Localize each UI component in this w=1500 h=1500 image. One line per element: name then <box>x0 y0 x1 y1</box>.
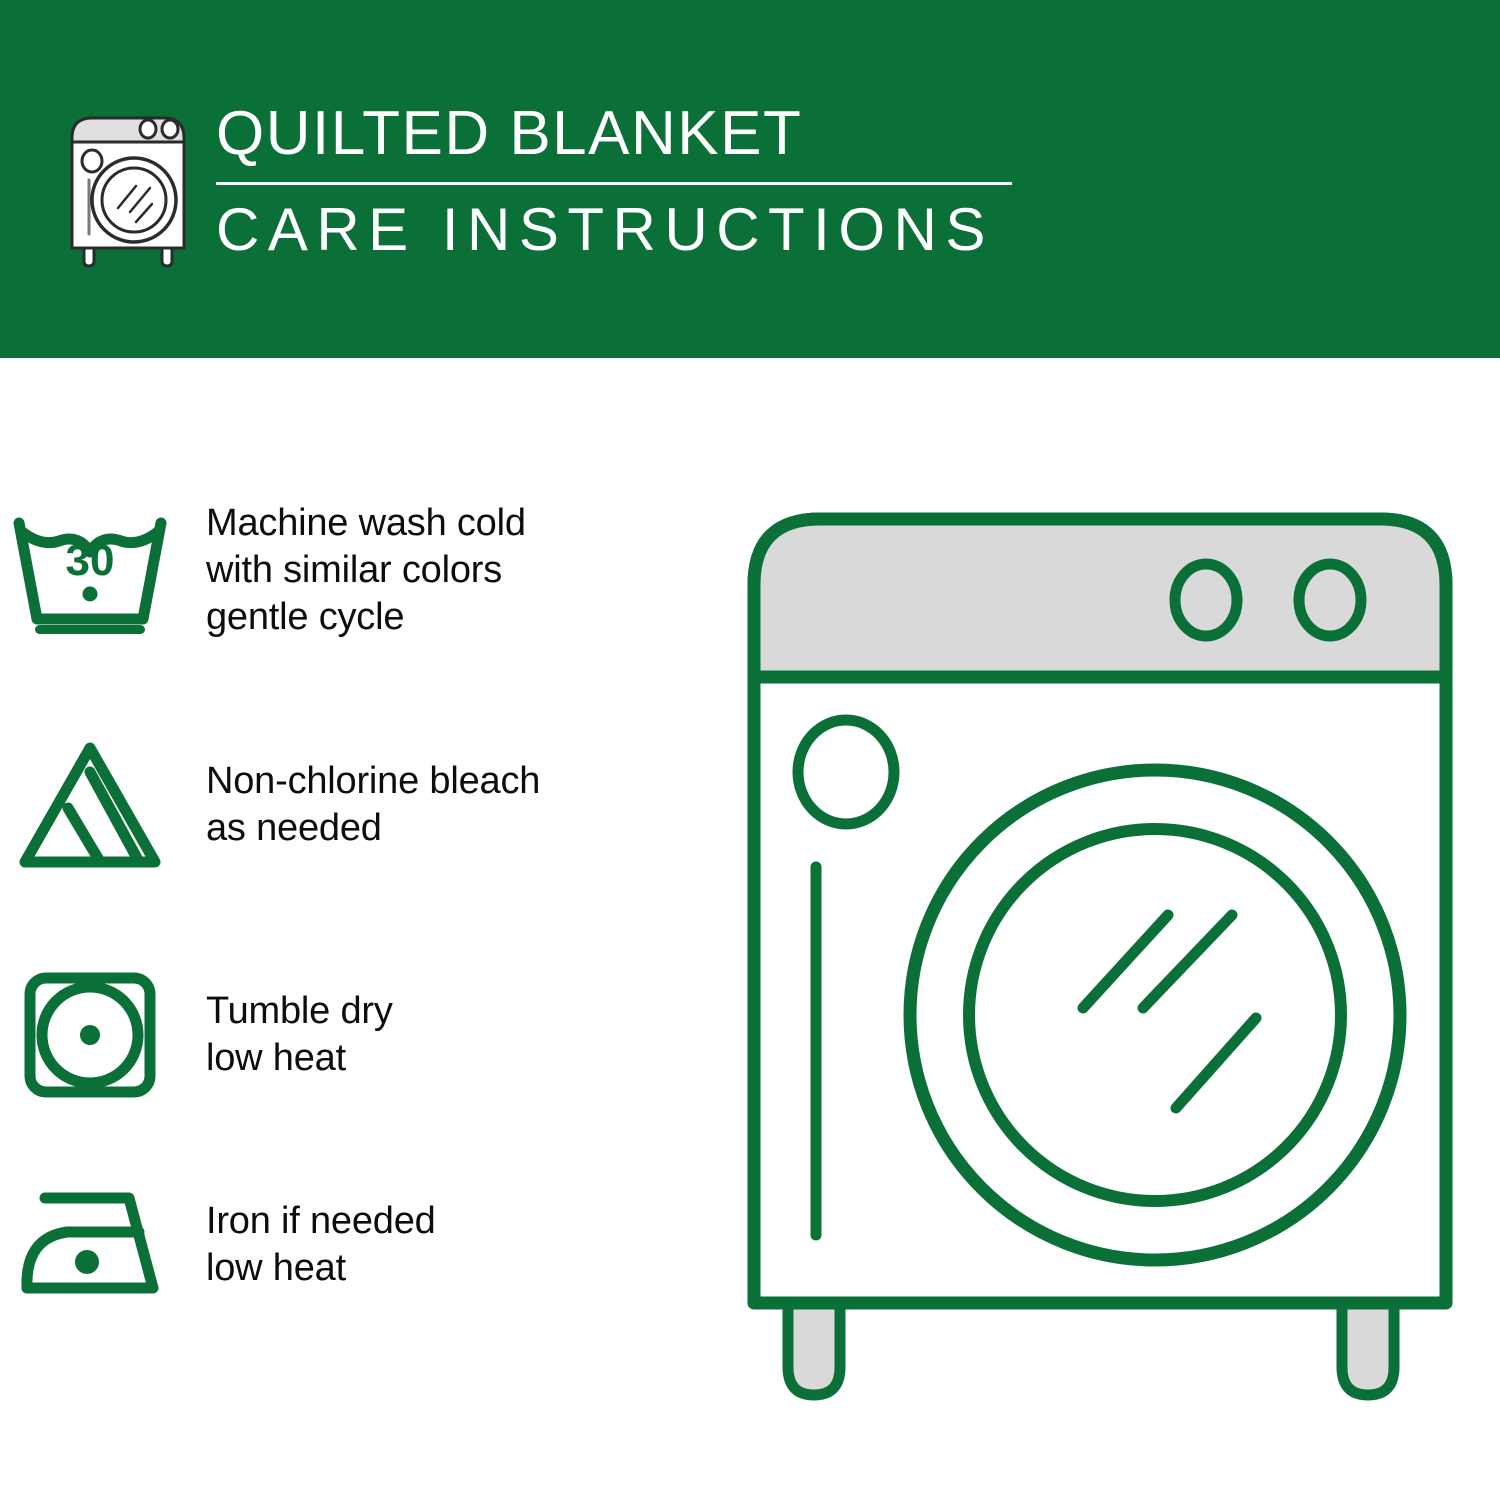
title-block: QUILTED BLANKET CARE INSTRUCTIONS <box>216 98 1016 264</box>
leg-right <box>1342 1295 1394 1395</box>
care-line: low heat <box>206 1245 436 1292</box>
leg-left <box>788 1295 840 1395</box>
control-knob-right <box>1299 564 1361 636</box>
drum-door-inner-ring <box>969 829 1341 1201</box>
care-instructions-infographic: QUILTED BLANKET CARE INSTRUCTIONS 30 Mac… <box>0 0 1500 1500</box>
wash-temp-value: 30 <box>66 536 115 585</box>
iron-low-heat-icon <box>0 1180 180 1310</box>
care-line: Machine wash cold <box>206 500 526 547</box>
tumble-dry-low-heat-icon <box>0 960 180 1110</box>
care-row-bleach: Non-chlorine bleach as needed <box>0 730 720 880</box>
control-knob-left <box>1175 564 1237 636</box>
care-line: gentle cycle <box>206 594 526 641</box>
care-row-tumble-dry: Tumble dry low heat <box>0 960 720 1110</box>
care-line: low heat <box>206 1035 393 1082</box>
header-banner: QUILTED BLANKET CARE INSTRUCTIONS <box>0 0 1500 358</box>
washing-machine-icon <box>62 108 202 268</box>
care-line: with similar colors <box>206 547 526 594</box>
care-line: Tumble dry <box>206 988 393 1035</box>
care-text-iron: Iron if needed low heat <box>180 1198 436 1292</box>
care-text-wash: Machine wash cold with similar colors ge… <box>180 500 526 641</box>
wash-tub-30-gentle-icon: 30 <box>0 501 180 641</box>
care-text-tumble-dry: Tumble dry low heat <box>180 988 393 1082</box>
care-line: Non-chlorine bleach <box>206 758 540 805</box>
non-chlorine-bleach-triangle-icon <box>0 730 180 880</box>
care-row-iron: Iron if needed low heat <box>0 1180 720 1310</box>
care-row-wash: 30 Machine wash cold with similar colors… <box>0 500 720 641</box>
care-text-bleach: Non-chlorine bleach as needed <box>180 758 540 852</box>
page-subtitle: CARE INSTRUCTIONS <box>216 196 1016 264</box>
page-title: QUILTED BLANKET <box>216 98 1016 170</box>
detergent-dispenser-circle <box>798 720 894 824</box>
title-divider <box>216 182 1012 185</box>
care-line: Iron if needed <box>206 1198 436 1245</box>
front-load-washing-machine-illustration <box>740 495 1460 1425</box>
care-line: as needed <box>206 805 540 852</box>
